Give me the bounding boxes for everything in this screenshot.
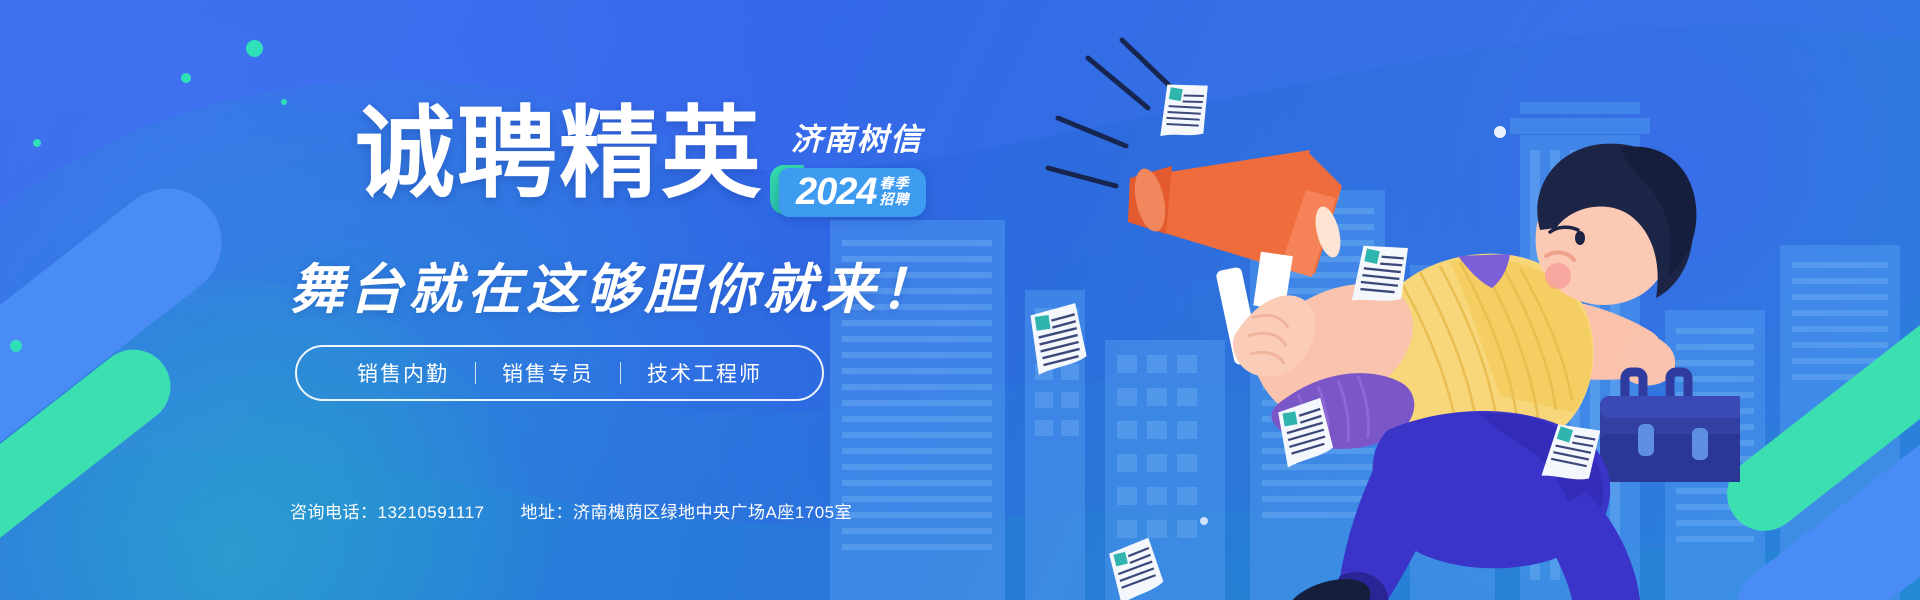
headline-row: 诚聘精英 济南树信 2024 春季 招聘 [355, 104, 926, 217]
banner-content: 诚聘精英 济南树信 2024 春季 招聘 舞台就在这够胆你就来！ 销售内勤 [290, 0, 1070, 600]
recruitment-banner: 诚聘精英 济南树信 2024 春季 招聘 舞台就在这够胆你就来！ 销售内勤 [0, 0, 1920, 600]
position-item-1[interactable]: 销售内勤 [331, 358, 475, 388]
decorative-dot [10, 340, 22, 352]
decorative-dot [33, 139, 41, 147]
briefcase-icon [1600, 372, 1740, 482]
season-badge: 2024 春季 招聘 [779, 168, 926, 217]
person-head [1536, 144, 1697, 305]
resume-paper-icon [1104, 538, 1166, 600]
resume-paper-icon [1348, 238, 1414, 310]
contact-address: 地址：济南槐荫区绿地中央广场A座1705室 [520, 498, 852, 523]
position-item-2[interactable]: 销售专员 [476, 358, 620, 388]
badge-subtext: 春季 招聘 [880, 176, 910, 207]
company-badge-block: 济南树信 2024 春季 招聘 [779, 104, 926, 217]
position-item-3[interactable]: 技术工程师 [621, 358, 788, 388]
resume-paper-icon [1155, 78, 1213, 144]
contact-info: 咨询电话：13210591117 地址：济南槐荫区绿地中央广场A座1705室 [290, 498, 852, 523]
badge-sub-line1: 春季 [880, 176, 910, 191]
page-subtitle: 舞台就在这够胆你就来！ [290, 245, 1070, 324]
positions-pill: 销售内勤 销售专员 技术工程师 [295, 345, 824, 401]
decorative-dot [246, 40, 263, 57]
decorative-dot [281, 99, 287, 105]
season-badge-wrap: 2024 春季 招聘 [779, 168, 926, 217]
page-title: 诚聘精英 [355, 104, 763, 204]
resume-paper-icon [1272, 396, 1338, 468]
badge-year: 2024 [796, 173, 877, 211]
company-name: 济南树信 [779, 114, 923, 159]
decorative-dot [181, 73, 191, 83]
contact-phone: 咨询电话：13210591117 [290, 498, 484, 523]
badge-sub-line2: 招聘 [880, 192, 910, 207]
resume-paper-icon [1540, 418, 1604, 488]
